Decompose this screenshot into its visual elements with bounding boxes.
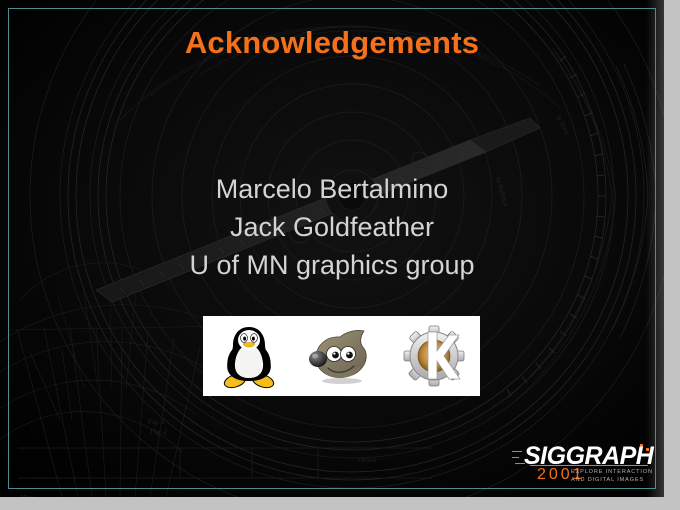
bg-label-fig1: Fig. 1 bbox=[147, 418, 165, 426]
gimp-wilber-logo bbox=[302, 319, 380, 393]
acknowledgement-line-3: U of MN graphics group bbox=[0, 246, 664, 284]
bg-label-orient: Orient bbox=[358, 456, 377, 464]
linux-tux-logo bbox=[210, 319, 288, 393]
presentation-slide: Fig. 1 Fig. 2 Mars Orient la Balance la … bbox=[0, 0, 664, 497]
slide-stage: Fig. 1 Fig. 2 Mars Orient la Balance la … bbox=[0, 0, 680, 510]
siggraph-tagline-line-1: EXPLORE INTERACTION bbox=[571, 468, 653, 476]
kde-gear-logo bbox=[395, 319, 473, 393]
bg-label-fig2: Fig. 2 bbox=[149, 428, 167, 436]
siggraph-tagline: EXPLORE INTERACTION AND DIGITAL IMAGES bbox=[571, 468, 653, 484]
acknowledgement-list: Marcelo Bertalmino Jack Goldfeather U of… bbox=[0, 170, 664, 284]
acknowledgement-line-1: Marcelo Bertalmino bbox=[0, 170, 664, 208]
bg-label-mars: Mars bbox=[19, 494, 35, 497]
page-title: Acknowledgements bbox=[0, 25, 664, 61]
acknowledgement-line-2: Jack Goldfeather bbox=[0, 208, 664, 246]
siggraph-tagline-line-2: AND DIGITAL IMAGES bbox=[571, 476, 653, 484]
siggraph-logo: SIGGRAPH 2001 EXPLORE INTERACTION AND DI… bbox=[512, 443, 652, 491]
credits-logo-strip bbox=[203, 316, 480, 396]
